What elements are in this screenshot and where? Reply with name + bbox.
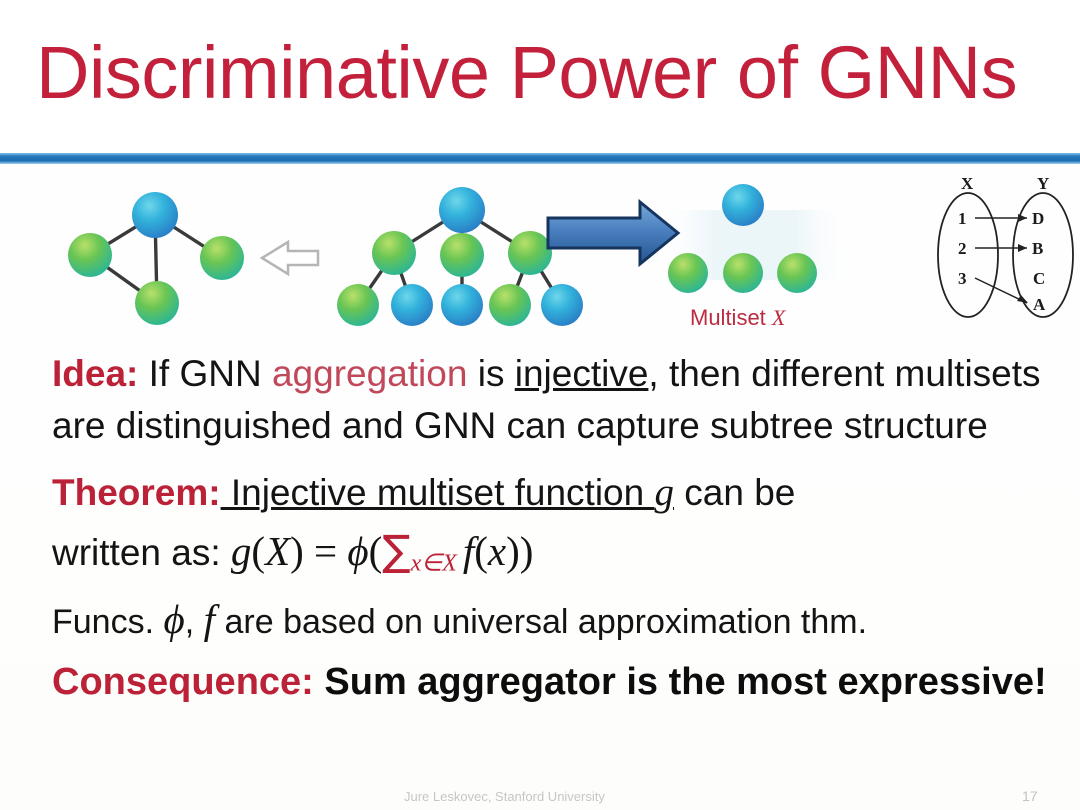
consequence-body-text: Sum aggregator is the most expressive! (314, 661, 1047, 703)
formula-g: g (231, 528, 252, 574)
tree-root-node-blue (439, 187, 485, 233)
formula-prefix: written as: (52, 532, 231, 573)
x-element-1: 1 (958, 209, 967, 228)
multiset-node-green (668, 253, 708, 293)
multiset-node-green (777, 253, 817, 293)
formula-f: f (463, 528, 474, 574)
formula-capital-x: X (265, 528, 290, 574)
formula-paren-close-3: ) (506, 528, 520, 574)
set-y-label: Y (1037, 174, 1049, 193)
x-element-2: 2 (958, 239, 967, 258)
consequence-paragraph: Consequence: Sum aggregator is the most … (52, 656, 1062, 709)
formula-paren-open-2: ( (369, 528, 383, 574)
y-element-a: A (1033, 295, 1046, 314)
funcs-suffix: are based on universal approximation thm… (215, 603, 867, 641)
funcs-phi: ϕ (163, 596, 184, 642)
funcs-f: f (204, 596, 215, 642)
formula-paren-open-3: ( (474, 528, 488, 574)
formula-paren-open-1: ( (251, 528, 265, 574)
graph-node-green (135, 281, 179, 325)
multiset-caption-var: X (772, 305, 785, 330)
tree-leaf-node-blue (541, 284, 583, 326)
formula-equals: = (304, 528, 348, 574)
y-element-b: B (1032, 239, 1043, 258)
multiset-caption: Multiset X (690, 305, 785, 331)
tree-leaf-node-blue (391, 284, 433, 326)
footer-page-number: 17 (1022, 788, 1038, 804)
graph-node-green (68, 233, 112, 277)
slide-header: Discriminative Power of GNNs (0, 34, 1080, 144)
gnn-subtree-illustration: X Y 1 2 3 D B C A (0, 170, 1080, 345)
footer-credit: Jure Leskovec, Stanford University (404, 789, 605, 804)
multiset-caption-text: Multiset (690, 305, 772, 330)
tree-leaf-node-green (337, 284, 379, 326)
theorem-tail-text: can be (674, 472, 795, 513)
formula-sigma-symbol: ∑ (382, 526, 410, 575)
idea-highlight-aggregation: aggregation (272, 353, 467, 394)
formula-sigma-subscript: x∈X (411, 550, 457, 576)
theorem-lead-label: Theorem: (52, 472, 221, 513)
theorem-var-g: g (655, 471, 675, 514)
slide-body: Idea: If GNN aggregation is injective, t… (52, 348, 1062, 712)
idea-underlined-injective: injective (515, 353, 649, 394)
hollow-arrow-icon (262, 242, 318, 274)
theorem-paragraph: Theorem: Injective multiset function g c… (52, 466, 1062, 521)
funcs-prefix: Funcs. (52, 603, 163, 641)
slide-canvas: Discriminative Power of GNNs (0, 0, 1080, 810)
consequence-lead-label: Consequence: (52, 661, 314, 703)
tree-leaf-node-green (489, 284, 531, 326)
idea-text-2: is (467, 353, 514, 394)
theorem-formula-paragraph: written as: g(X) = ϕ(∑x∈Xf(x)) (52, 522, 1062, 581)
title-divider-rule (0, 153, 1080, 164)
set-x-label: X (961, 174, 974, 193)
funcs-paragraph: Funcs. ϕ, f are based on universal appro… (52, 591, 1062, 648)
formula-phi: ϕ (347, 528, 368, 574)
multiset-center-node-blue (722, 184, 764, 226)
tree-child-node-green (372, 231, 416, 275)
idea-text-1: If GNN (138, 353, 272, 394)
idea-paragraph: Idea: If GNN aggregation is injective, t… (52, 348, 1062, 452)
formula-paren-close-2: ) (520, 528, 534, 574)
tree-child-node-green (440, 233, 484, 277)
multiset-node-green (723, 253, 763, 293)
x-element-3: 3 (958, 269, 967, 288)
page-title: Discriminative Power of GNNs (36, 34, 1017, 112)
theorem-underlined-text: Injective multiset function (221, 472, 655, 513)
idea-lead-label: Idea: (52, 353, 138, 394)
funcs-comma: , (185, 603, 204, 641)
formula-paren-close-1: ) (290, 528, 304, 574)
y-element-c: C (1033, 269, 1045, 288)
graph-node-green (200, 236, 244, 280)
tree-child-node-green (508, 231, 552, 275)
formula-lower-x: x (488, 528, 506, 574)
figure-row: X Y 1 2 3 D B C A (0, 170, 1080, 345)
y-element-d: D (1032, 209, 1044, 228)
tree-leaf-node-blue (441, 284, 483, 326)
graph-node-blue (132, 192, 178, 238)
set-x-ellipse (938, 193, 998, 317)
